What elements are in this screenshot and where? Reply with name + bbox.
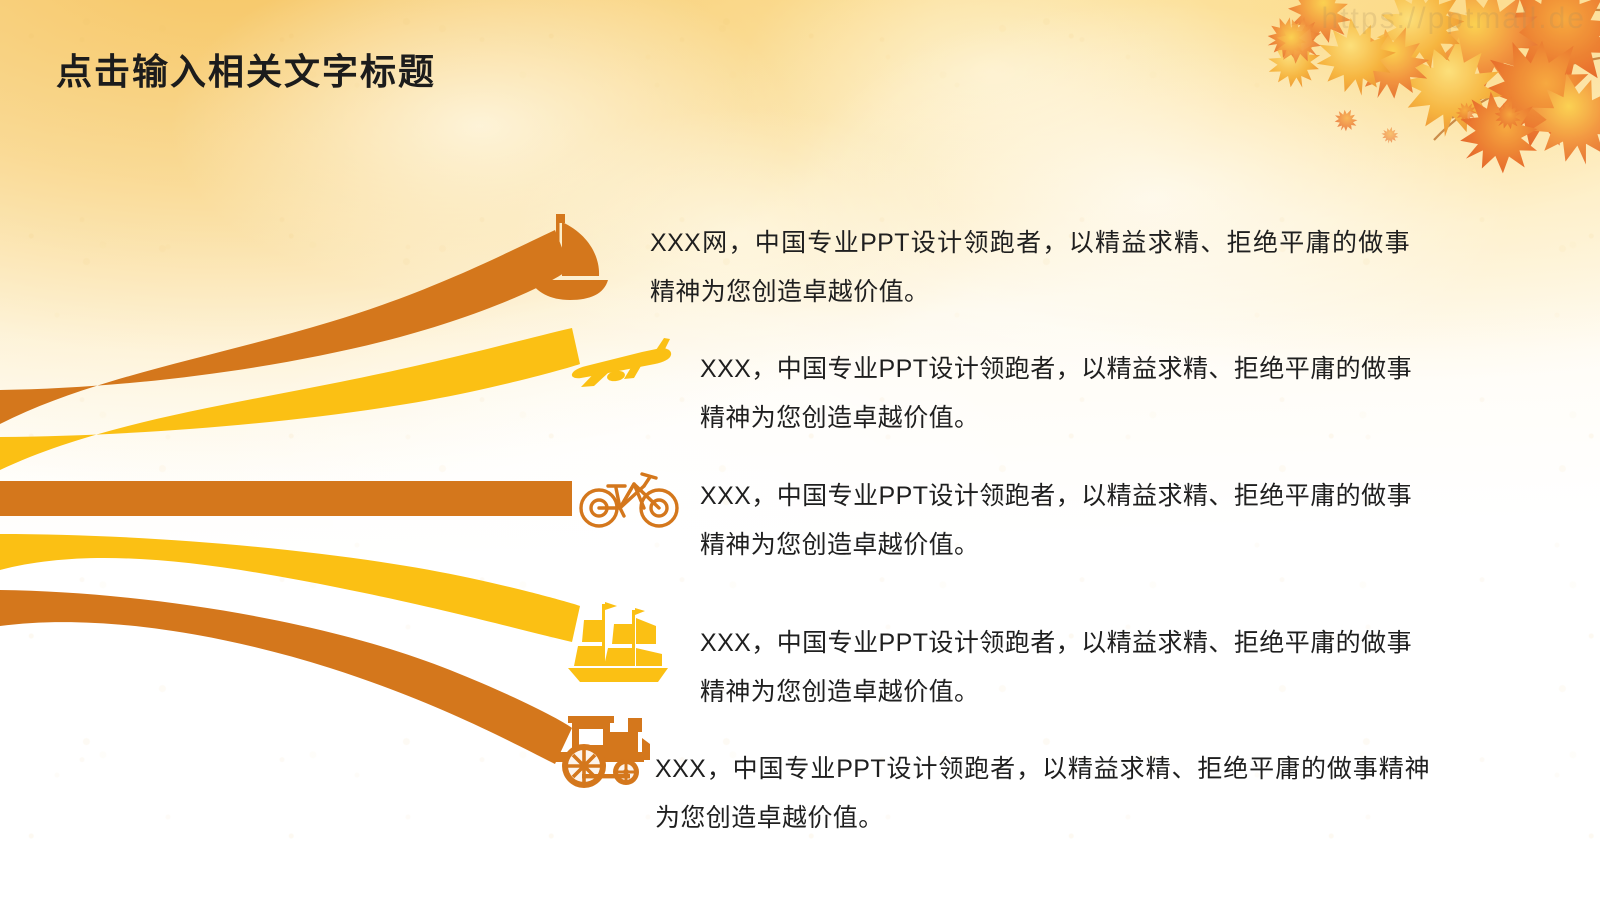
slide-canvas: https://pptmall.de 点击输入相关文字标题 <box>0 0 1600 900</box>
item-text-4: XXX，中国专业PPT设计领跑者，以精益求精、拒绝平庸的做事精神为您创造卓越价值… <box>700 619 1412 717</box>
item-text-1: XXX网，中国专业PPT设计领跑者，以精益求精、拒绝平庸的做事精神为您创造卓越价… <box>650 219 1410 317</box>
steam-train-icon <box>534 704 650 790</box>
item-text-2: XXX，中国专业PPT设计领跑者，以精益求精、拒绝平庸的做事精神为您创造卓越价值… <box>700 345 1412 443</box>
sailing-ship-icon <box>562 596 674 684</box>
item-text-5: XXX，中国专业PPT设计领跑者，以精益求精、拒绝平庸的做事精神为您创造卓越价值… <box>655 745 1430 843</box>
item-text-3: XXX，中国专业PPT设计领跑者，以精益求精、拒绝平庸的做事精神为您创造卓越价值… <box>700 472 1412 570</box>
sailboat-icon <box>516 212 616 304</box>
airplane-icon <box>560 334 672 398</box>
ribbon-3-bicycle <box>0 481 572 516</box>
bicycle-icon <box>578 464 680 530</box>
